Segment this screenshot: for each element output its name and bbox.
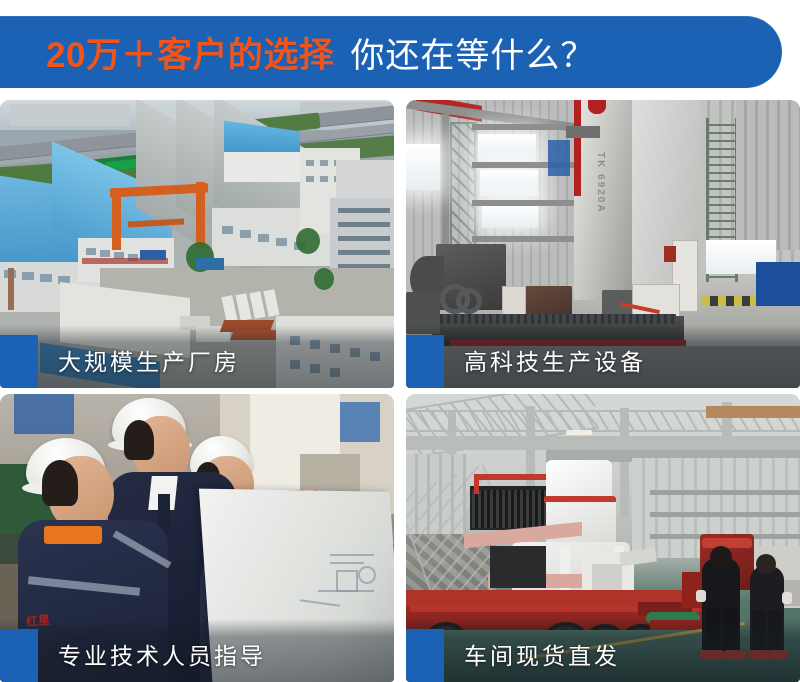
photo-vsi-crusher-on-flatbed-truck: 车间现货直发	[406, 394, 800, 682]
panel-in-stock-direct-shipping[interactable]: 车间现货直发	[406, 394, 800, 682]
caption-accent-block	[406, 335, 444, 388]
panel-large-scale-workshop[interactable]: 大规模生产厂房	[0, 100, 394, 388]
banner-question-text: 你还在等什么？	[350, 28, 595, 77]
panel-caption: 高科技生产设备	[464, 343, 646, 377]
panel-caption: 大规模生产厂房	[58, 343, 240, 377]
photo-aerial-factory-complex: 大规模生产厂房	[0, 100, 394, 388]
caption-accent-block	[0, 335, 38, 388]
caption-accent-block	[0, 629, 38, 682]
panel-technical-guidance[interactable]: 红星 专业技术人员指导	[0, 394, 394, 682]
banner-highlight-text: 20万＋客户的选择	[46, 27, 334, 78]
uniform-logo-text: 红星	[25, 611, 51, 630]
photo-cnc-boring-machine: TK 6920A	[406, 100, 800, 388]
photo-engineers-reviewing-blueprint: 红星 专业技术人员指导	[0, 394, 394, 682]
caption-accent-block	[406, 629, 444, 682]
panel-high-tech-equipment[interactable]: TK 6920A	[406, 100, 800, 388]
panel-caption: 车间现货直发	[464, 637, 620, 671]
machine-model-label: TK 6920A	[595, 152, 606, 214]
header-banner-text: 20万＋客户的选择 你还在等什么？	[0, 27, 595, 78]
panel-caption: 专业技术人员指导	[58, 637, 266, 671]
promo-banner-page: 20万＋客户的选择 你还在等什么？	[0, 0, 800, 682]
header-banner: 20万＋客户的选择 你还在等什么？	[0, 16, 782, 88]
photo-grid: 大规模生产厂房	[0, 100, 800, 682]
